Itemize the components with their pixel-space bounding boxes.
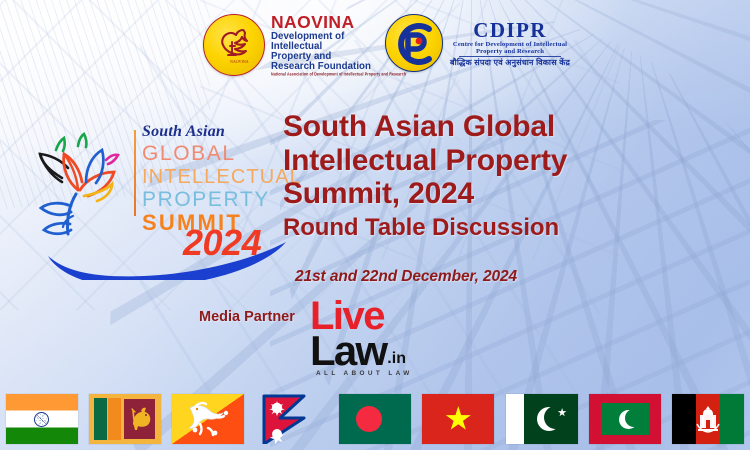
- headline-subtitle: Round Table Discussion: [283, 214, 743, 242]
- flag-cell-maldives: [583, 388, 666, 450]
- flag-cell-nepal: [250, 388, 333, 450]
- flag-cell-india: [0, 388, 83, 450]
- vietnam-flag-icon: [422, 394, 494, 444]
- flag-cell-srilanka: [83, 388, 166, 450]
- event-date: 21st and 22nd December, 2024: [295, 268, 517, 286]
- eagle-icon: NAOVINA: [213, 23, 257, 67]
- srilanka-lion-icon: [127, 404, 152, 432]
- srilanka-green-band: [94, 398, 107, 440]
- headline-line-1: South Asian Global: [283, 110, 743, 144]
- flag-cell-vietnam: [417, 388, 500, 450]
- livelaw-tld-text: .in: [387, 352, 406, 365]
- bhutan-dragon-icon: [184, 400, 232, 438]
- summit-logo-divider: [134, 130, 136, 216]
- cdipr-subtitle-2: Property and Research: [450, 48, 570, 55]
- bangladesh-flag-icon: [339, 394, 411, 444]
- pakistan-flag-icon: [506, 394, 578, 444]
- afghanistan-emblem-icon: [695, 404, 721, 434]
- blue-swoosh-icon: [44, 210, 306, 280]
- naovina-logo: NAOVINA NAOVINA Development of Intellect…: [203, 14, 406, 77]
- naovina-fineprint: National Association of Development of I…: [271, 73, 406, 78]
- headline-block: South Asian Global Intellectual Property…: [283, 110, 743, 242]
- afghanistan-flag-icon: [672, 394, 744, 444]
- flag-cell-bhutan: [167, 388, 250, 450]
- nepal-flag-icon: [256, 394, 328, 444]
- country-flag-strip: [0, 388, 750, 450]
- flag-cell-afghanistan: [667, 388, 750, 450]
- bhutan-flag-icon: [172, 394, 244, 444]
- flag-cell-pakistan: [500, 388, 583, 450]
- summit-year: 2024: [183, 222, 261, 264]
- media-partner-label: Media Partner: [199, 309, 295, 325]
- livelaw-tagline: ALL ABOUT LAW: [310, 370, 413, 377]
- pakistan-white-band: [506, 394, 524, 444]
- india-flag-icon: [6, 394, 78, 444]
- vietnam-star-icon: [445, 406, 471, 432]
- headline-line-2: Intellectual Property: [283, 144, 743, 178]
- livelaw-law-text: Law: [310, 334, 386, 368]
- flag-cell-bangladesh: [333, 388, 416, 450]
- svg-text:NAOVINA: NAOVINA: [230, 59, 249, 64]
- cdipr-hindi-text: बौद्धिक संपदा एवं अनुसंधान विकास केंद्र: [450, 59, 570, 67]
- cdipr-subtitle-1: Centre for Development of Intellectual: [450, 41, 570, 48]
- maldives-crescent-icon: [619, 410, 638, 429]
- maldives-flag-icon: [589, 394, 661, 444]
- summit-global: GLOBAL: [142, 142, 302, 166]
- summit-property: PROPERTY: [142, 188, 302, 212]
- headline-line-3: Summit, 2024: [283, 177, 743, 211]
- bangladesh-red-disc: [356, 406, 382, 432]
- cp-monogram-icon: [386, 15, 444, 73]
- summit-south-asian: South Asian: [142, 124, 302, 140]
- srilanka-orange-band: [108, 398, 121, 440]
- cdipr-emblem-icon: [385, 14, 443, 72]
- ashoka-chakra-icon: [34, 412, 49, 427]
- cdipr-divider: [459, 56, 561, 57]
- livelaw-logo: Live Law .in ALL ABOUT LAW: [310, 300, 413, 377]
- cdipr-logo: CDIPR Centre for Development of Intellec…: [385, 14, 570, 72]
- srilanka-flag-icon: [89, 394, 161, 444]
- summit-intellectual: INTELLECTUAL: [142, 166, 302, 188]
- pakistan-crescent-icon: [537, 407, 561, 431]
- naovina-emblem-icon: NAOVINA: [203, 14, 265, 76]
- cdipr-title: CDIPR: [450, 19, 570, 41]
- nepal-pennant-icon: [256, 394, 316, 444]
